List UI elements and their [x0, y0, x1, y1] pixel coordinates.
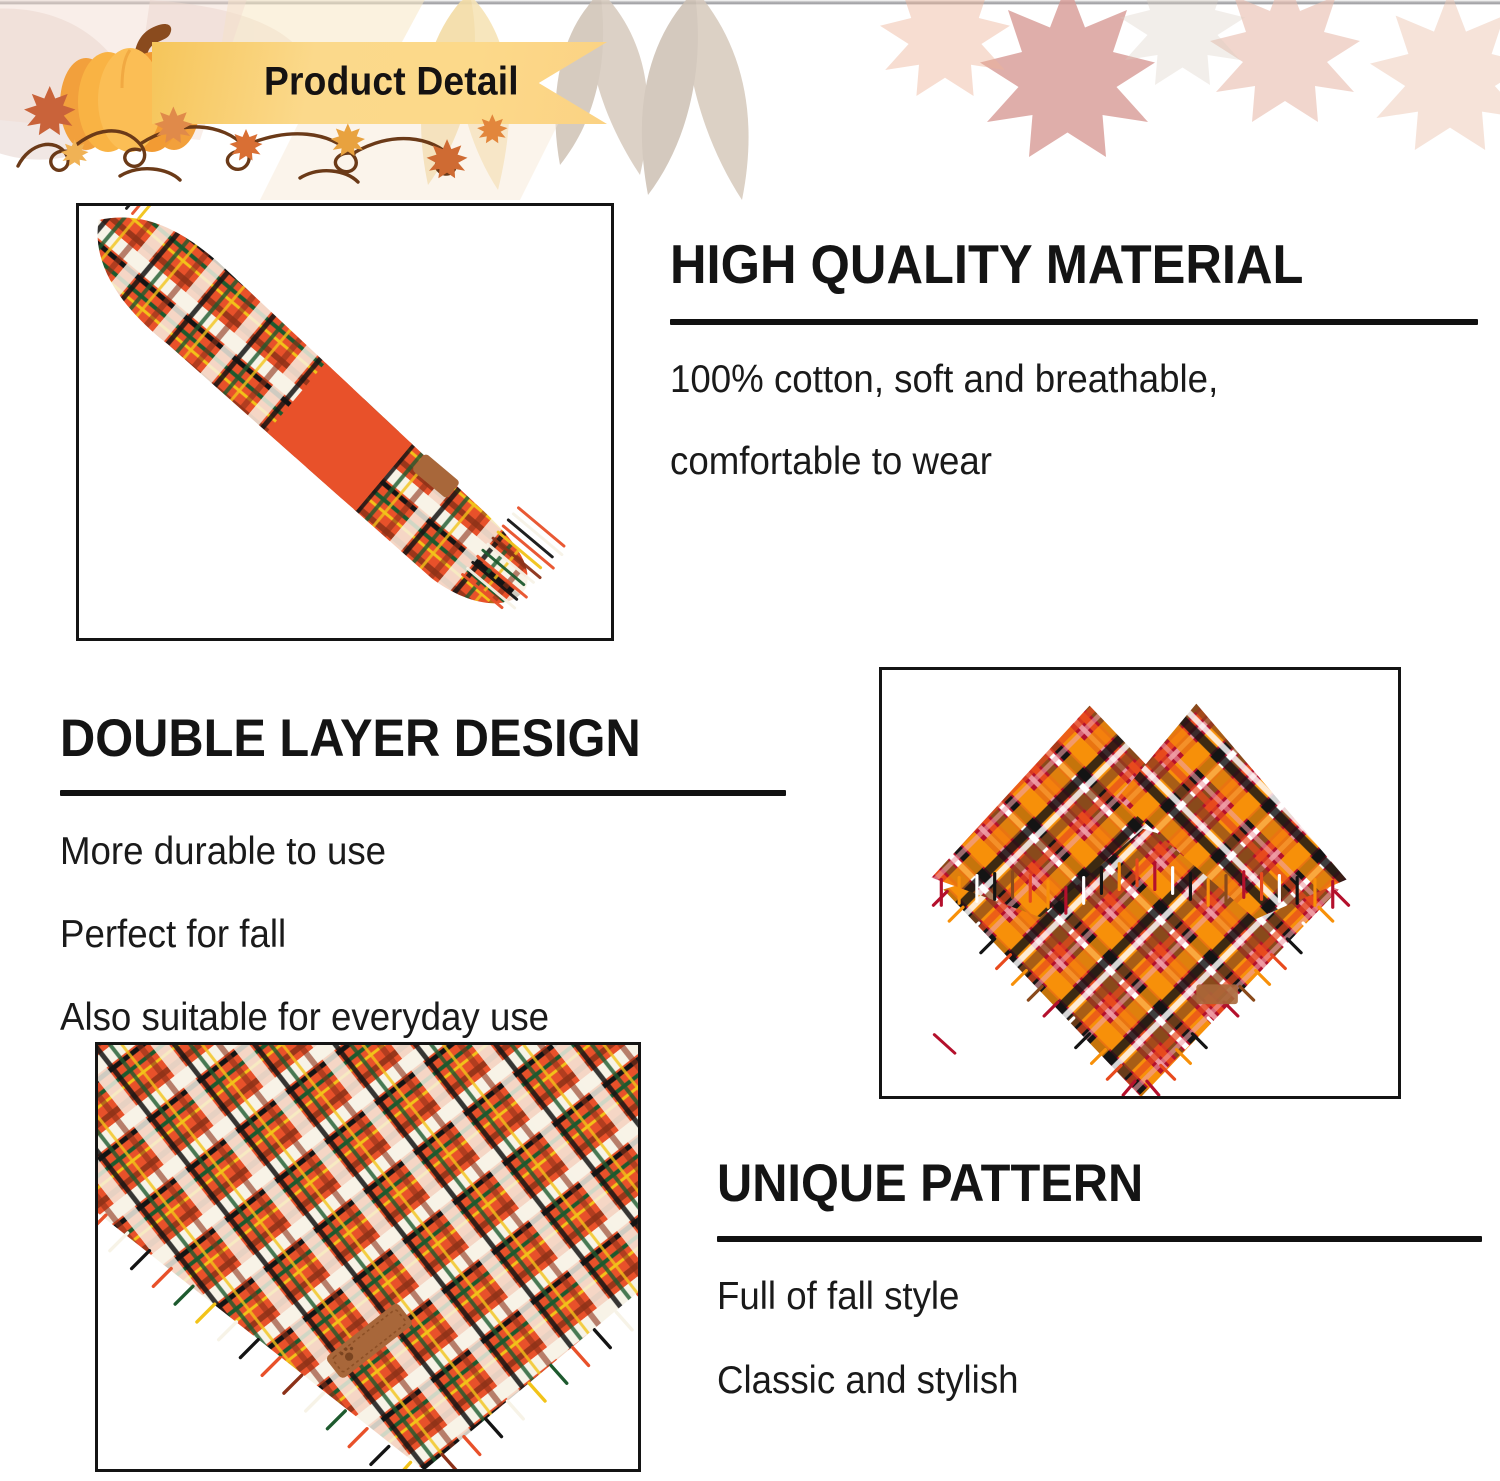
section-line: 100% cotton, soft and breathable,: [670, 358, 1431, 402]
section-heading: DOUBLE LAYER DESIGN: [60, 712, 728, 765]
section-line: Perfect for fall: [60, 913, 742, 957]
section-line: Classic and stylish: [717, 1359, 1436, 1403]
rolled-bandana-image: [79, 206, 611, 639]
section-line: Full of fall style: [717, 1275, 1436, 1319]
product-photo-rolled-bandana: [76, 203, 614, 641]
product-detail-page: Product Detail: [0, 0, 1500, 1481]
section-line: More durable to use: [60, 830, 742, 874]
section-high-quality-material: HIGH QUALITY MATERIAL 100% cotton, soft …: [670, 237, 1480, 484]
section-heading: HIGH QUALITY MATERIAL: [670, 237, 1415, 292]
folded-bandana-image: [882, 670, 1398, 1097]
section-heading: UNIQUE PATTERN: [717, 1157, 1421, 1210]
product-photo-folded-bandana: [879, 667, 1401, 1099]
section-line: comfortable to wear: [670, 440, 1431, 484]
heading-underline: [60, 790, 786, 796]
flat-bandana-image: [98, 1045, 638, 1470]
heading-underline: [717, 1236, 1482, 1242]
header-banner: Product Detail: [0, 0, 1500, 200]
vine-swirls-decoration: [0, 80, 560, 190]
section-double-layer-design: DOUBLE LAYER DESIGN More durable to use …: [60, 712, 786, 1040]
heading-underline: [670, 319, 1478, 325]
section-line: Also suitable for everyday use: [60, 996, 742, 1040]
product-photo-flat-bandana: [95, 1042, 641, 1472]
section-unique-pattern: UNIQUE PATTERN Full of fall style Classi…: [717, 1157, 1482, 1403]
